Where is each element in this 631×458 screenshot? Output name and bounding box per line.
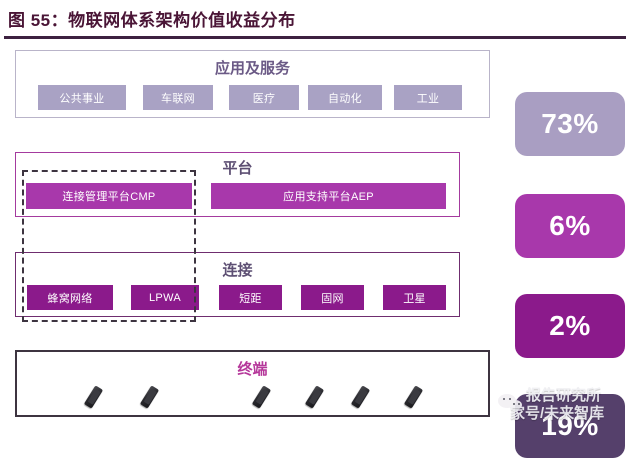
layer-terminal[interactable]: 终端 [15,350,490,417]
figure-header: 图 55：物联网体系架构价值收益分布 [0,0,631,42]
device-icon [351,385,370,408]
device-icon [305,385,324,408]
title-divider [4,36,626,39]
badge-application-percent: 73% [515,92,625,156]
chip-connection-4[interactable]: 卫星 [383,285,446,310]
architecture-diagram: 应用及服务 公共事业 车联网 医疗 自动化 工业 平台 连接管理平台CMP 应用… [0,42,631,423]
badge-terminal-percent: 19% [515,394,625,458]
chip-platform-cmp[interactable]: 连接管理平台CMP [26,183,192,209]
device-icon [252,385,271,408]
chip-connection-2[interactable]: 短距 [219,285,282,310]
chip-application-4[interactable]: 工业 [394,85,462,110]
device-icon [84,385,103,408]
chip-application-1[interactable]: 车联网 [143,85,213,110]
badge-platform-percent: 6% [515,194,625,258]
chip-application-3[interactable]: 自动化 [308,85,382,110]
chip-application-2[interactable]: 医疗 [229,85,299,110]
layer-application-title: 应用及服务 [16,57,489,78]
device-icon [140,385,159,408]
device-icon [404,385,423,408]
chip-platform-aep[interactable]: 应用支持平台AEP [211,183,446,209]
layer-terminal-title: 终端 [17,358,488,379]
layer-connection-title: 连接 [16,259,459,280]
layer-platform-title: 平台 [16,157,459,178]
chip-application-0[interactable]: 公共事业 [38,85,126,110]
chip-connection-1[interactable]: LPWA [131,285,199,310]
badge-connection-percent: 2% [515,294,625,358]
layer-application[interactable]: 应用及服务 公共事业 车联网 医疗 自动化 工业 [15,50,490,118]
chip-connection-0[interactable]: 蜂窝网络 [27,285,113,310]
chip-connection-3[interactable]: 固网 [301,285,364,310]
layer-platform[interactable]: 平台 连接管理平台CMP 应用支持平台AEP [15,152,460,217]
layer-connection[interactable]: 连接 蜂窝网络 LPWA 短距 固网 卫星 [15,252,460,317]
page-title: 图 55：物联网体系架构价值收益分布 [8,6,296,31]
